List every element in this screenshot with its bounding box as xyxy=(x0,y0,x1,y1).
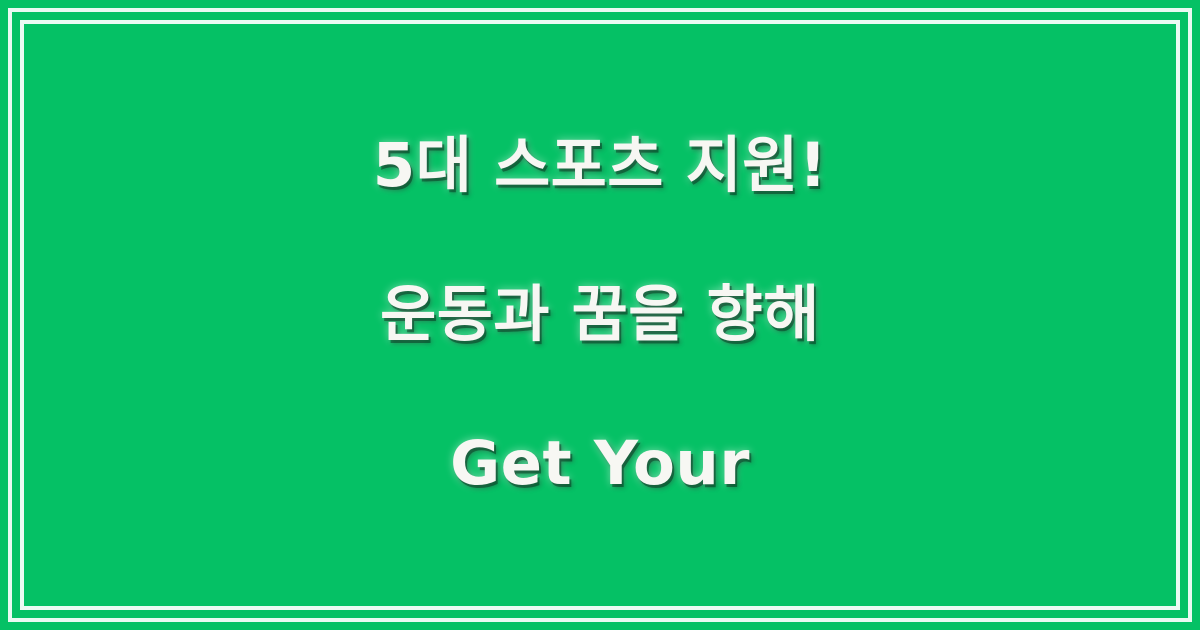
headline-line-3: Get Your xyxy=(373,427,827,501)
banner-headline: 5대 스포츠 지원! 운동과 꿈을 향해 Get Your xyxy=(293,55,907,576)
promotional-banner: 5대 스포츠 지원! 운동과 꿈을 향해 Get Your xyxy=(0,0,1200,630)
headline-line-1: 5대 스포츠 지원! xyxy=(373,129,827,203)
banner-content: 5대 스포츠 지원! 운동과 꿈을 향해 Get Your xyxy=(0,0,1200,630)
headline-line-2: 운동과 꿈을 향해 xyxy=(373,278,827,352)
